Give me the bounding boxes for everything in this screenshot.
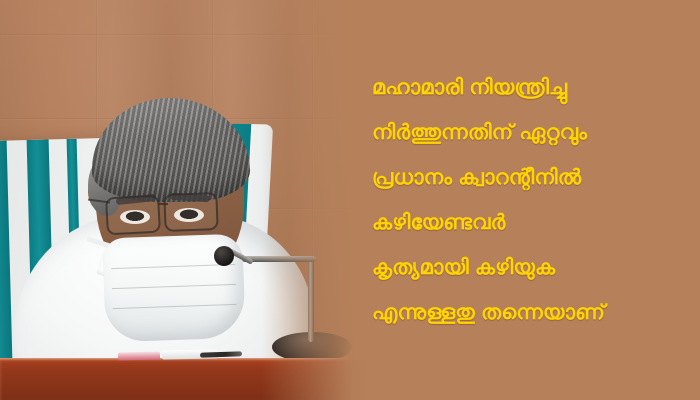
quote-line-3: പ്രധാനം ക്വാറന്റീനില്‍ — [372, 155, 690, 200]
wall-panel-joint — [0, 34, 372, 36]
microphone-capsule-icon — [214, 246, 234, 266]
quote-line-1: മഹാമാരി നിയന്ത്രിച്ചു — [372, 65, 690, 110]
spectacles-bridge — [158, 203, 168, 205]
desk — [0, 358, 372, 400]
mask-pleat — [111, 264, 235, 269]
subject-photo — [0, 0, 372, 400]
quote-line-6: എന്നുള്ളതു തന്നെയാണ് — [372, 290, 690, 335]
mask-pleat — [113, 304, 237, 309]
microphone-stem-vertical — [308, 258, 314, 342]
news-quote-graphic: മഹാമാരി നിയന്ത്രിച്ചു നിര്‍ത്തുന്നതിന് ഏ… — [0, 0, 700, 400]
spectacles-lens-right — [163, 192, 218, 232]
quote-line-2: നിര്‍ത്തുന്നതിന് ഏറ്റവും — [372, 110, 690, 155]
mask-pleat — [112, 284, 236, 289]
quote-line-4: കഴിയേണ്ടവര്‍ — [372, 200, 690, 245]
spectacles-lens-left — [105, 195, 161, 236]
quote-line-5: കൃത്യമായി കഴിയുക — [372, 245, 690, 290]
quote-text-panel: മഹാമാരി നിയന്ത്രിച്ചു നിര്‍ത്തുന്നതിന് ഏ… — [358, 0, 700, 400]
desk-item-pink-paper — [118, 352, 160, 361]
